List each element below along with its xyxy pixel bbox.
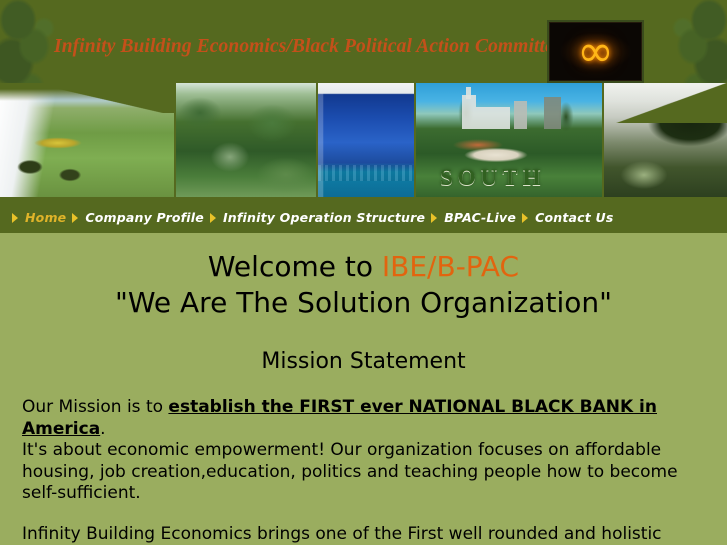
mission-body: Our Mission is to establish the FIRST ev… [0,375,727,545]
arrow-right-icon [431,213,437,223]
banner-image-blue-colonial-house-pool-photo [318,83,414,197]
nav-item-infinity-operation-structure-label: Infinity Operation Structure [223,210,425,225]
welcome-prefix: Welcome to [208,250,382,283]
second-paragraph: Infinity Building Economics brings one o… [22,524,705,545]
mission-paragraph: Our Mission is to establish the FIRST ev… [22,397,705,505]
banner-image-city-park-floral-display-photo: SOUTH [416,83,602,197]
arrow-right-icon [522,213,528,223]
banner-image-golf-course-garden-aerial-photo [0,83,174,197]
mission-lead: Our Mission is to [22,397,168,417]
tagline: "We Are The Solution Organization" [115,286,612,319]
main-navigation: Home Company Profile Infinity Operation … [0,202,727,233]
nav-item-bpac-live[interactable]: BPAC-Live [425,210,516,225]
nav-item-home[interactable]: Home [6,210,66,225]
nav-item-company-profile-label: Company Profile [85,210,204,225]
banner-photo-strip: SOUTH [0,83,727,197]
nav-item-home-label: Home [25,210,66,225]
banner-image-stone-church-park-photo [604,83,727,197]
main-content: Welcome to IBE/B-PAC "We Are The Solutio… [0,233,727,545]
mission-statement-heading: Mission Statement [0,321,727,375]
nav-item-infinity-operation-structure[interactable]: Infinity Operation Structure [204,210,425,225]
building-silhouette [514,101,527,129]
banner-image-lush-green-garden-photo [176,83,316,197]
building-silhouette [466,87,471,99]
welcome-accent: IBE/B-PAC [382,250,519,283]
welcome-heading: Welcome to IBE/B-PAC "We Are The Solutio… [0,233,727,321]
site-title: Infinity Building Economics/Black Politi… [54,36,570,58]
arrow-right-icon [210,213,216,223]
nav-item-company-profile[interactable]: Company Profile [66,210,204,225]
mission-period: . [100,419,105,439]
building-silhouette [544,97,561,129]
mission-body-text: It's about economic empowerment! Our org… [22,440,678,503]
building-silhouette [476,107,510,129]
arrow-right-icon [12,213,18,223]
floral-lettering: SOUTH [440,165,546,191]
nav-item-contact-us-label: Contact Us [535,210,613,225]
page-root: Infinity Building Economics/Black Politi… [0,0,727,545]
arrow-right-icon [72,213,78,223]
site-header: Infinity Building Economics/Black Politi… [0,0,727,205]
nav-item-bpac-live-label: BPAC-Live [444,210,516,225]
nav-item-contact-us[interactable]: Contact Us [516,210,613,225]
building-silhouette [462,95,476,129]
infinity-symbol-icon: ∞ [549,30,642,74]
infinity-logo: ∞ [547,20,644,83]
